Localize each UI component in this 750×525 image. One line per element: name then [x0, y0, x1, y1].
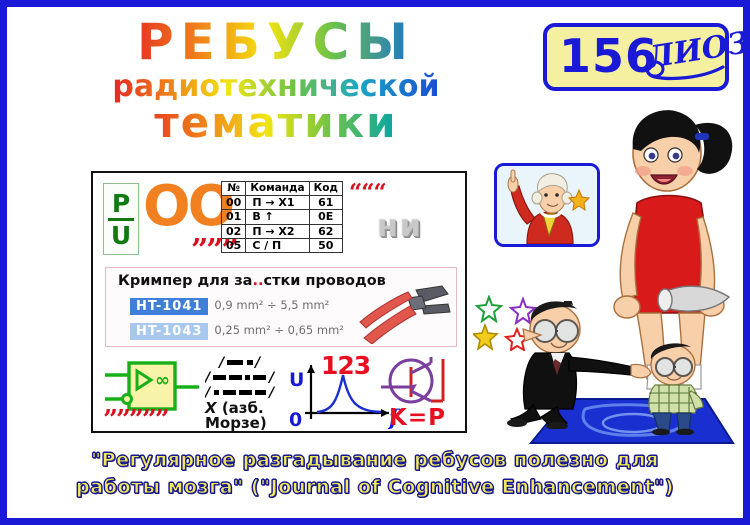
issue-number-badge: 156 ЛИОЗ — [543, 23, 729, 91]
cell-no: 05 — [222, 239, 246, 253]
table-row: 02 П → Х2 62 — [222, 224, 343, 238]
morse-code-icon: / / / / / / — [205, 355, 281, 401]
graph-origin-label: 0 — [289, 409, 302, 431]
crimper-pliers-icon — [356, 284, 452, 344]
caption-line-2: работы мозга" ("Journal of Cognitive Enh… — [7, 474, 743, 501]
rebus-content-card: P U OO ””” № Команда Код 00 П → Х1 61 — [91, 171, 467, 433]
table-row: 05 С / П 50 — [222, 239, 343, 253]
crimper-title-dots: .. — [252, 273, 263, 289]
apostrophes-five: ””””” — [103, 405, 168, 435]
cartoon-boy-plaid-shirt — [633, 343, 723, 435]
product-spec: 0,25 mm² ÷ 0,65 mm² — [214, 323, 344, 337]
product-model-tag: HT-1043 — [130, 323, 208, 340]
product-spec: 0,9 mm² ÷ 5,5 mm² — [214, 298, 329, 312]
table-row: 00 П → Х1 61 — [222, 195, 343, 209]
oo-letters: OO — [143, 179, 232, 235]
col-header-command: Команда — [246, 182, 309, 196]
product-model-tag: HT-1041 — [130, 298, 208, 315]
cell-code: 0E — [309, 210, 342, 224]
table-header-row: № Команда Код — [222, 182, 343, 196]
morse-caption: Х (азб. Морзе) — [205, 401, 267, 432]
title-line-1: РЕБУСЫ — [41, 17, 511, 68]
cell-command: С / П — [246, 239, 309, 253]
pu-fraction-rebus: P U — [103, 183, 139, 255]
fraction-numerator: P — [112, 191, 130, 216]
quotes-666: “““ — [349, 179, 386, 206]
cell-no: 00 — [222, 195, 246, 209]
fraction-denominator: U — [111, 223, 131, 248]
cell-code: 62 — [309, 224, 342, 238]
poster-title: РЕБУСЫ радиотехнической тематики — [41, 17, 511, 145]
badge-swoosh-icon — [643, 53, 731, 87]
crimper-panel: Кримпер для за..стки проводов HT-10410,9… — [105, 267, 457, 347]
product-row: HT-10410,9 mm² ÷ 5,5 mm² — [130, 298, 329, 315]
cell-code: 61 — [309, 195, 342, 209]
svg-text:/: / — [253, 355, 262, 371]
col-header-code: Код — [309, 182, 342, 196]
cell-no: 02 — [222, 224, 246, 238]
crimper-title-part1: Кримпер для за — [118, 273, 252, 289]
poster-caption: "Регулярное разгадывание ребусов полезно… — [7, 447, 743, 501]
cell-no: 01 — [222, 210, 246, 224]
crimper-title: Кримпер для за..стки проводов — [118, 273, 386, 289]
table-row: 01 В ↑ 0E — [222, 210, 343, 224]
svg-text:/: / — [217, 355, 226, 371]
title-line-3: тематики — [41, 101, 511, 145]
graph-y-label: U — [289, 369, 304, 391]
col-header-no: № — [222, 182, 246, 196]
svg-text:/: / — [267, 370, 276, 386]
morse-caption-line2: Морзе) — [205, 414, 267, 432]
framed-scientist-portrait — [494, 163, 600, 247]
graph-annotation: 123 — [321, 351, 370, 380]
ni-text-3d: ни — [377, 209, 423, 244]
svg-text:/: / — [267, 385, 276, 401]
transistor-equation: K=P — [389, 405, 446, 431]
poster-root: РЕБУСЫ радиотехнической тематики 156 ЛИО… — [0, 0, 750, 525]
svg-text:∞: ∞ — [155, 370, 170, 391]
cell-code: 50 — [309, 239, 342, 253]
cell-command: П → Х1 — [246, 195, 309, 209]
scientist-figure-icon — [497, 166, 597, 244]
cell-command: В ↑ — [246, 210, 309, 224]
product-row: HT-10430,25 mm² ÷ 0,65 mm² — [130, 323, 344, 340]
svg-text:/: / — [205, 370, 212, 386]
caption-line-1: "Регулярное разгадывание ребусов полезно… — [7, 447, 743, 474]
cell-command: П → Х2 — [246, 224, 309, 238]
command-code-table: № Команда Код 00 П → Х1 61 01 В ↑ 0E 02 — [221, 181, 343, 253]
